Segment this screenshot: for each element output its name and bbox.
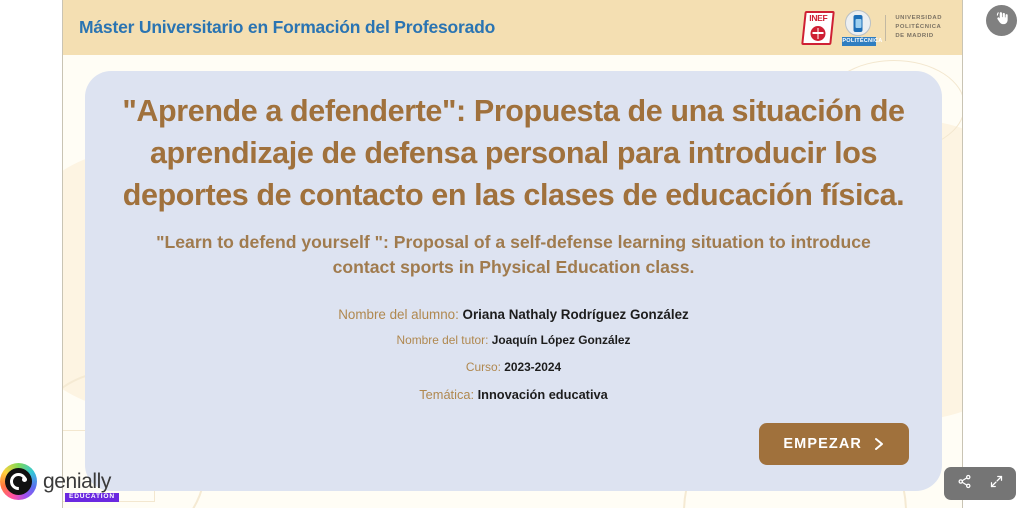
interactive-hint-button[interactable]	[986, 5, 1017, 36]
cover-content-panel: "Aprende a defenderte": Propuesta de una…	[85, 71, 942, 491]
inef-logo-icon: INEF	[803, 11, 833, 45]
chevron-right-icon	[873, 437, 885, 451]
topic-value: Innovación educativa	[478, 387, 608, 402]
share-button[interactable]	[950, 470, 978, 498]
tutor-label: Nombre del tutor:	[397, 333, 489, 347]
upm-wordmark-line-1: UNIVERSIDAD	[895, 14, 942, 23]
start-button-label: EMPEZAR	[783, 436, 862, 452]
course-label: Curso:	[466, 360, 501, 374]
viewer-controls	[944, 467, 1016, 500]
metadata-row-tutor: Nombre del tutor: Joaquín López González	[85, 332, 942, 348]
page-title: Máster Universitario en Formación del Pr…	[79, 17, 495, 38]
presentation-viewer: Máster Universitario en Formación del Pr…	[0, 0, 1024, 508]
course-value: 2023-2024	[504, 360, 561, 374]
genially-wordmark-text: genially	[43, 470, 111, 493]
subtitle-english: "Learn to defend yourself ": Proposal of…	[85, 230, 942, 279]
upm-seal-logo-icon: POLITÉCNICA	[842, 10, 876, 46]
metadata-row-student: Nombre del alumno: Oriana Nathaly Rodríg…	[85, 306, 942, 324]
hand-pointer-icon	[993, 10, 1010, 32]
student-value: Oriana Nathaly Rodríguez González	[463, 307, 689, 322]
genially-logo-icon	[0, 463, 37, 500]
politecnica-banner-label: POLITÉCNICA	[842, 37, 876, 46]
genially-branding[interactable]: genially EDUCATION	[0, 463, 111, 500]
inef-logo-label: INEF	[803, 13, 833, 23]
main-title: "Aprende a defenderte": Propuesta de una…	[85, 71, 942, 216]
upm-wordmark: UNIVERSIDAD POLITÉCNICA DE MADRID	[895, 14, 942, 41]
tutor-value: Joaquín López González	[492, 333, 631, 347]
slide-header-bar: Máster Universitario en Formación del Pr…	[63, 0, 962, 55]
logo-divider	[885, 15, 886, 41]
genially-education-badge: EDUCATION	[65, 493, 119, 502]
slide-canvas[interactable]: Máster Universitario en Formación del Pr…	[62, 0, 963, 508]
metadata-row-course: Curso: 2023-2024	[85, 359, 942, 375]
institution-logos: INEF POLITÉCNICA UNIVERSIDAD POLITÉCNICA…	[803, 10, 950, 46]
metadata-list: Nombre del alumno: Oriana Nathaly Rodríg…	[85, 306, 942, 403]
student-label: Nombre del alumno:	[338, 307, 459, 322]
topic-label: Temática:	[419, 387, 474, 402]
genially-wordmark: genially EDUCATION	[43, 471, 111, 492]
fullscreen-button[interactable]	[982, 470, 1010, 498]
start-button[interactable]: EMPEZAR	[759, 423, 909, 465]
upm-wordmark-line-3: DE MADRID	[895, 32, 942, 41]
metadata-row-topic: Temática: Innovación educativa	[85, 386, 942, 403]
share-icon	[957, 474, 972, 494]
upm-wordmark-line-2: POLITÉCNICA	[895, 23, 942, 32]
fullscreen-expand-icon	[989, 474, 1004, 494]
